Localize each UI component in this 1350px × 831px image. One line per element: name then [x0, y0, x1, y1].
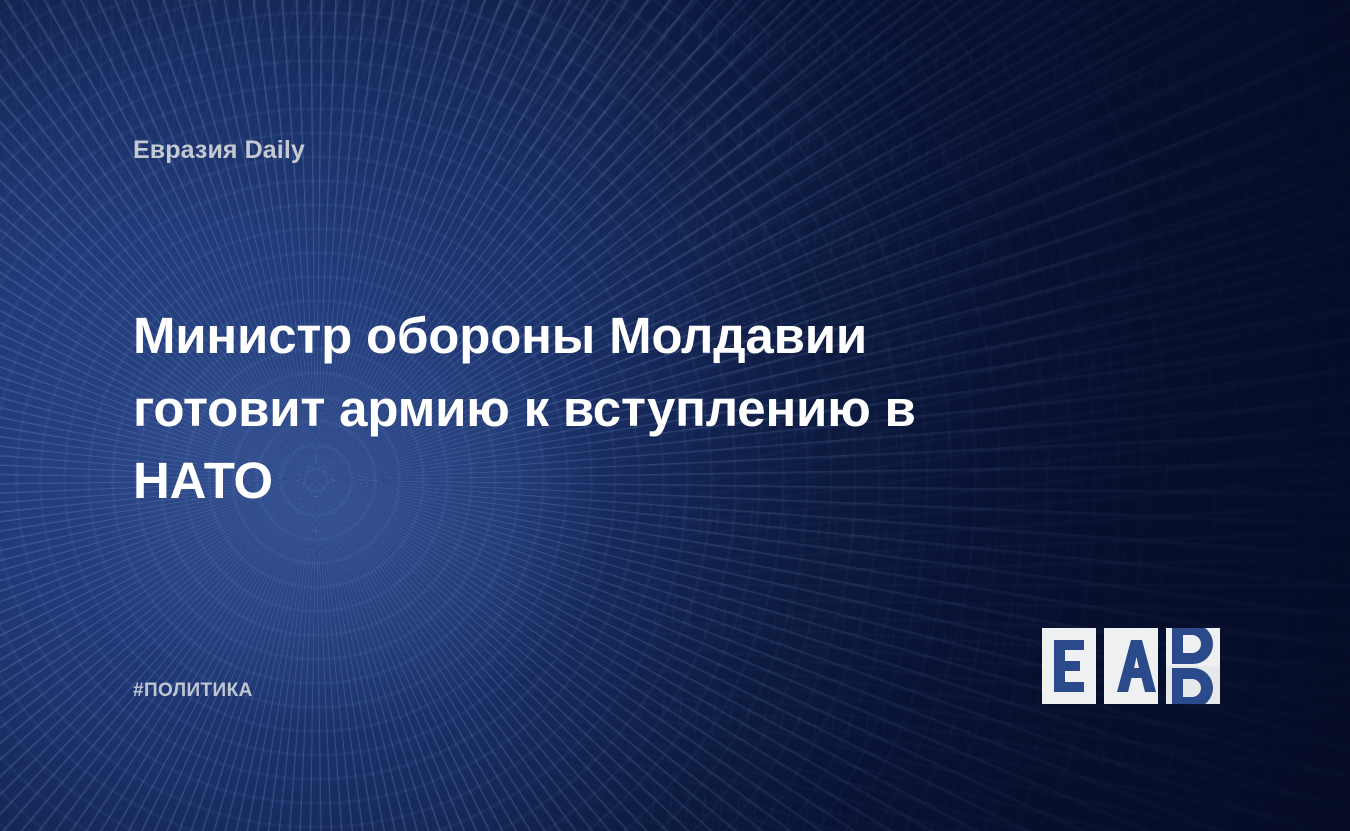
site-name: Евразия Daily	[133, 136, 305, 165]
news-card: Евразия Daily Министр обороны Молдавии г…	[0, 0, 1350, 831]
eadaily-logo-svg	[1042, 628, 1222, 704]
eadaily-logo	[1042, 628, 1222, 704]
headline: Министр обороны Молдавии готовит армию к…	[133, 300, 1033, 517]
logo-letter-e	[1054, 640, 1084, 692]
category-hashtag: #ПОЛИТИКА	[133, 680, 253, 702]
